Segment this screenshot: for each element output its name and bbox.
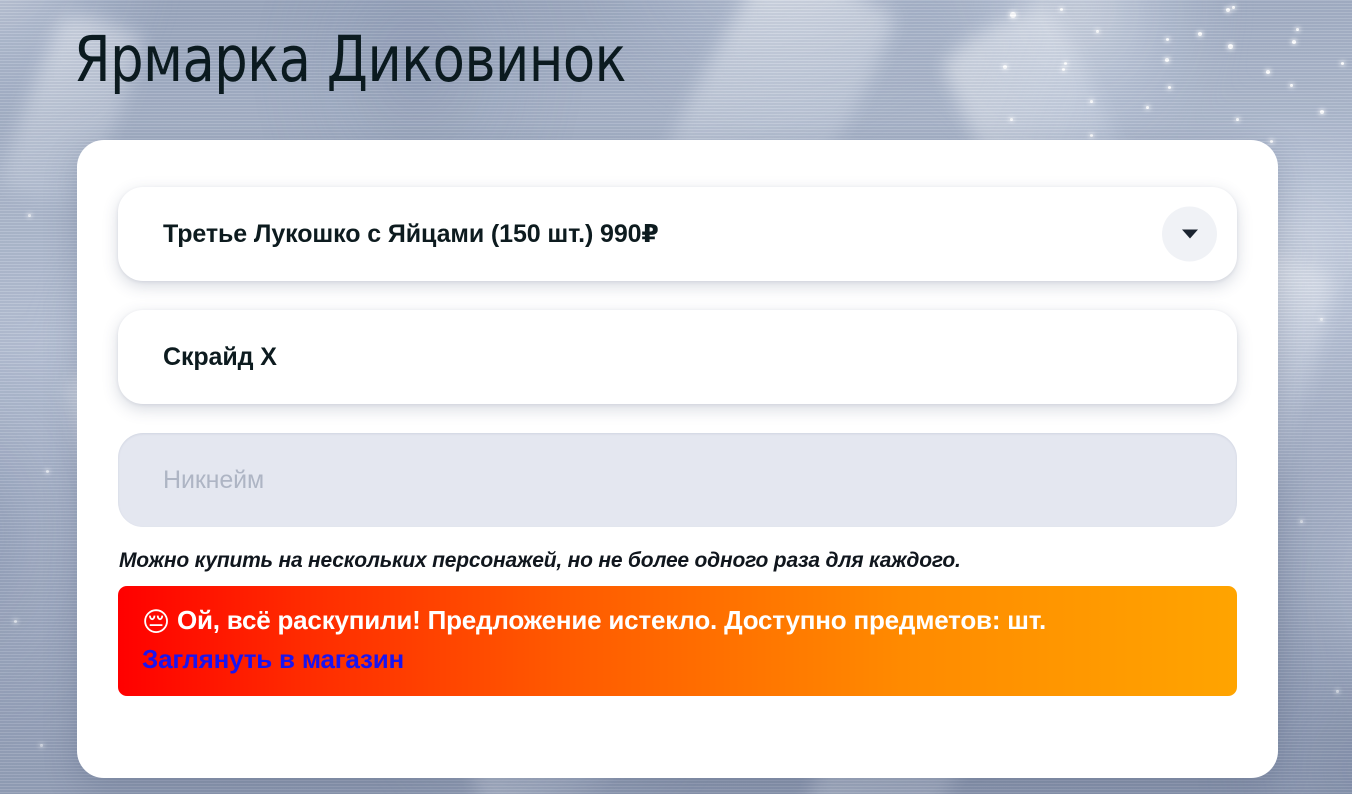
nickname-input[interactable]: Никнейм — [118, 433, 1237, 527]
caret-shape — [1182, 230, 1198, 239]
character-field[interactable]: Скрайд X — [118, 310, 1237, 404]
offer-select[interactable]: Третье Лукошко с Яйцами (150 шт.) 990₽ — [118, 187, 1237, 281]
chevron-down-icon[interactable] — [1162, 207, 1217, 262]
page-title: Ярмарка Диковинок — [74, 28, 626, 91]
shop-link[interactable]: Заглянуть в магазин — [142, 641, 404, 678]
sold-out-banner: 😔Ой, всё раскупили! Предложение истекло.… — [118, 586, 1237, 696]
purchase-card: Третье Лукошко с Яйцами (150 шт.) 990₽ С… — [77, 140, 1278, 778]
purchase-note: Можно купить на нескольких персонажей, н… — [118, 549, 1237, 573]
sold-out-message: Ой, всё раскупили! Предложение истекло. … — [177, 605, 1046, 635]
nickname-placeholder: Никнейм — [163, 466, 264, 495]
page-root: Ярмарка Диковинок Третье Лукошко с Яйцам… — [0, 0, 1352, 794]
pensive-face-emoji: 😔 — [142, 607, 170, 637]
offer-select-value: Третье Лукошко с Яйцами (150 шт.) 990₽ — [163, 219, 659, 249]
character-field-value: Скрайд X — [163, 343, 277, 372]
